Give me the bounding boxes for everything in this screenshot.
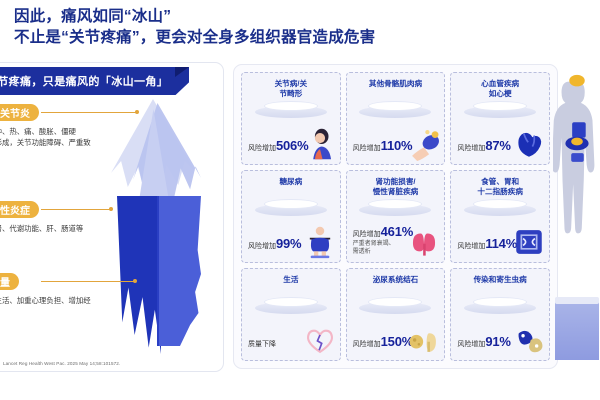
card-stat: 风险增加150% bbox=[353, 337, 413, 350]
tag-quality-of-life: 生活质量 bbox=[0, 273, 19, 290]
iceberg-icon bbox=[105, 99, 210, 354]
card-stat-sub: 严重者肾衰竭、 需透析 bbox=[353, 240, 413, 256]
pedestal-icon bbox=[255, 198, 327, 216]
pedestal-icon bbox=[464, 198, 536, 216]
card-title: 泌尿系统结石 bbox=[351, 275, 441, 285]
pedestal-icon bbox=[359, 296, 431, 314]
title-line-2: 不止是“关节疼痛”，更会对全身多组织器官造成危害 bbox=[14, 27, 586, 48]
risk-card[interactable]: 糖尿病 风险增加99% bbox=[241, 170, 341, 263]
pedestal-icon bbox=[255, 100, 327, 118]
card-stat: 风险增加110% bbox=[353, 141, 413, 154]
connector-dot-1 bbox=[135, 110, 139, 114]
card-stat-value: 91% bbox=[485, 334, 510, 349]
risk-cards-grid: 关节病/关 节畸形 风险增加506% 其他骨骼肌肉病 风险增加110% bbox=[233, 64, 558, 369]
card-stat-prefix: 风险增加 bbox=[457, 243, 485, 250]
iceberg-underwater-right bbox=[159, 196, 201, 346]
tag-gouty-arthritis-body: 关节红、肿、热、痛、酸胀、僵硬 痛风石的形成，关节功能障碍、严重致残 bbox=[0, 127, 91, 159]
iceberg-underwater-left bbox=[117, 196, 161, 354]
card-stat-prefix: 风险增加 bbox=[353, 231, 381, 238]
card-stat-prefix: 风险增加 bbox=[248, 145, 276, 152]
card-title: 其他骨骼肌肉病 bbox=[351, 79, 441, 89]
iceberg-banner: 关节疼痛，只是痛风的「冰山一角」 bbox=[0, 67, 189, 95]
tag-gouty-arthritis: 痛风性关节炎 bbox=[0, 104, 39, 121]
human-body-organs-icon bbox=[553, 70, 600, 370]
card-stat: 风险增加91% bbox=[457, 337, 510, 350]
woman-neck-pain-icon bbox=[303, 127, 337, 161]
tag-systemic-inflammation: 全身慢性炎症 bbox=[0, 201, 39, 218]
card-stat-prefix: 风险增加 bbox=[353, 145, 381, 152]
obese-person-icon bbox=[303, 225, 337, 259]
urinary-stone-icon bbox=[407, 323, 441, 357]
card-title: 关节病/关 节畸形 bbox=[246, 79, 336, 99]
card-stat-prefix: 质量下降 bbox=[248, 341, 276, 348]
connector-line-2 bbox=[41, 209, 111, 210]
pedestal-icon bbox=[359, 198, 431, 216]
card-stat-prefix: 风险增加 bbox=[457, 145, 485, 152]
card-stat: 风险增加506% bbox=[248, 141, 308, 154]
kidney-icon bbox=[407, 225, 441, 259]
source-footnote: Lancet Reg Health West Pac. 2025 May 14;… bbox=[3, 361, 120, 366]
iceberg-seam bbox=[157, 196, 159, 346]
connector-line-1 bbox=[41, 112, 137, 113]
title-line-1: 因此，痛风如同“冰山” bbox=[14, 6, 586, 27]
risk-card[interactable]: 心血管疾病 如心梗 风险增加87% bbox=[450, 72, 550, 165]
germ-icon bbox=[512, 323, 546, 357]
card-stat-prefix: 风险增加 bbox=[457, 341, 485, 348]
broken-heart-icon bbox=[303, 323, 337, 357]
leg-muscle-icon bbox=[407, 127, 441, 161]
risk-card[interactable]: 生活 质量下降 bbox=[241, 268, 341, 361]
pedestal-icon bbox=[359, 100, 431, 118]
intestine-icon bbox=[512, 225, 546, 259]
card-stat: 风险增加87% bbox=[457, 141, 510, 154]
card-stat: 风险增加99% bbox=[248, 239, 301, 252]
iceberg-panel: 关节疼痛，只是痛风的「冰山一角」 痛风性关节炎 关节红、肿、热、痛、酸胀、僵硬 … bbox=[0, 62, 224, 372]
card-title: 传染和寄生虫病 bbox=[455, 275, 545, 285]
slide-root: 因此，痛风如同“冰山” 不止是“关节疼痛”，更会对全身多组织器官造成危害 关节疼… bbox=[0, 0, 600, 400]
card-title: 生活 bbox=[246, 275, 336, 285]
heart-icon bbox=[512, 127, 546, 161]
risk-card[interactable]: 泌尿系统结石 风险增加150% bbox=[346, 268, 446, 361]
card-stat-prefix: 风险增加 bbox=[248, 243, 276, 250]
card-stat-value: 87% bbox=[485, 138, 510, 153]
risk-card[interactable]: 其他骨骼肌肉病 风险增加110% bbox=[346, 72, 446, 165]
figure-pedestal bbox=[555, 302, 599, 360]
connector-line-3 bbox=[41, 281, 135, 282]
pedestal-icon bbox=[255, 296, 327, 314]
risk-card[interactable]: 食管、胃和 十二指肠疾病 风险增加114% bbox=[450, 170, 550, 263]
body-silhouette bbox=[553, 70, 600, 302]
card-title: 肾功能损害/ 慢性肾脏疾病 bbox=[351, 177, 441, 197]
card-stat: 风险增加114% bbox=[457, 239, 517, 252]
card-stat: 质量下降 bbox=[248, 337, 276, 350]
card-stat: 风险增加461% 严重者肾衰竭、 需透析 bbox=[353, 227, 413, 256]
tag-quality-of-life-body: 影响工作生活、加重心理负担、增加经济负担 bbox=[0, 296, 91, 317]
connector-dot-2 bbox=[109, 207, 113, 211]
page-title: 因此，痛风如同“冰山” 不止是“关节疼痛”，更会对全身多组织器官造成危害 bbox=[14, 6, 586, 48]
card-stat-value: 99% bbox=[276, 236, 301, 251]
card-stat-prefix: 风险增加 bbox=[353, 341, 381, 348]
card-title: 心血管疾病 如心梗 bbox=[455, 79, 545, 99]
risk-card[interactable]: 肾功能损害/ 慢性肾脏疾病 风险增加461% 严重者肾衰竭、 需透析 bbox=[346, 170, 446, 263]
risk-card[interactable]: 关节病/关 节畸形 风险增加506% bbox=[241, 72, 341, 165]
connector-dot-3 bbox=[133, 279, 137, 283]
card-title: 食管、胃和 十二指肠疾病 bbox=[455, 177, 545, 197]
risk-card[interactable]: 传染和寄生虫病 风险增加91% bbox=[450, 268, 550, 361]
card-title: 糖尿病 bbox=[246, 177, 336, 187]
pedestal-icon bbox=[464, 296, 536, 314]
pedestal-icon bbox=[464, 100, 536, 118]
tag-systemic-inflammation-body: 心血管、肾、代谢功能、肝、肠道等 bbox=[0, 224, 91, 235]
